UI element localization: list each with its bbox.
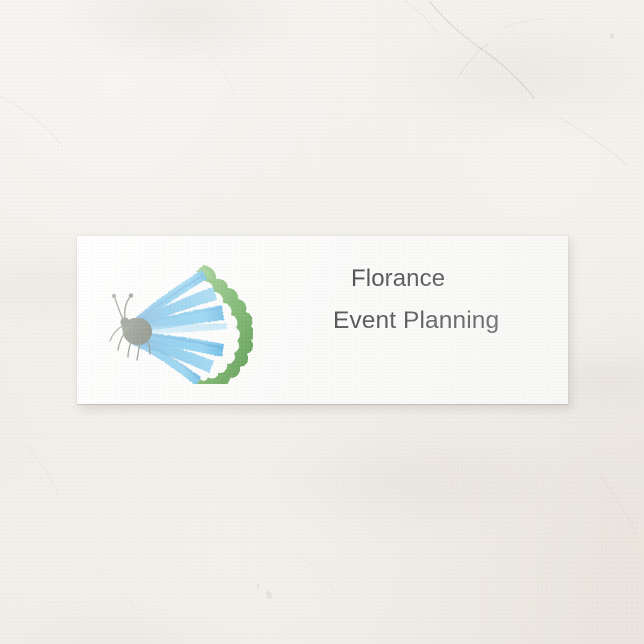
- business-card[interactable]: Florance Event Planning: [77, 236, 568, 404]
- butterfly-logo-artwork: [103, 256, 253, 384]
- company-name: Florance: [333, 264, 548, 294]
- card-text-block: Florance Event Planning: [333, 264, 548, 336]
- butterfly-logo: [103, 256, 253, 384]
- product-photo-scene: Florance Event Planning: [0, 0, 644, 644]
- tagline: Event Planning: [333, 306, 548, 336]
